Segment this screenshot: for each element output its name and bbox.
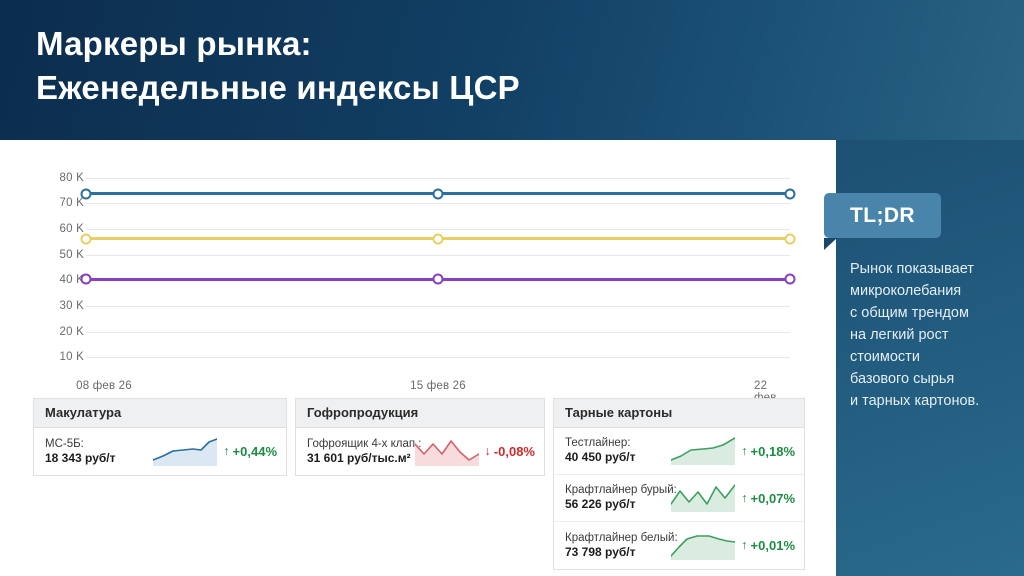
card-row[interactable]: Тестлайнер:40 450 руб/т↑+0,18% (554, 428, 804, 475)
row-commodity-name: Гофроящик 4-х клап.: (307, 437, 411, 451)
row-price-value: 56 226 руб/т (565, 497, 667, 513)
series-data-point[interactable] (785, 274, 796, 285)
row-price-value: 40 450 руб/т (565, 450, 667, 466)
arrow-down-icon: ↓ (485, 445, 491, 458)
tldr-badge-label: TL;DR (850, 204, 915, 228)
change-percent-label: +0,07% (751, 491, 795, 506)
series-data-point[interactable] (81, 188, 92, 199)
row-labels: Тестлайнер:40 450 руб/т (565, 436, 667, 466)
series-data-point[interactable] (81, 274, 92, 285)
gridline (86, 255, 790, 256)
gridline (86, 203, 790, 204)
y-axis-tick-label: 80 K (28, 172, 84, 184)
y-axis-tick-label: 70 K (28, 197, 84, 209)
y-axis-tick-label: 30 K (28, 300, 84, 312)
tldr-badge-fold-icon (824, 238, 837, 250)
row-labels: Крафтлайнер бурый:56 226 руб/т (565, 483, 667, 513)
change-badge: ↑+0,18% (741, 444, 795, 459)
y-axis-tick-label: 20 K (28, 326, 84, 338)
row-price-value: 18 343 руб/т (45, 451, 149, 467)
indicator-cards-row: МакулатураМС-5Б:18 343 руб/т↑+0,44%Гофро… (33, 398, 808, 558)
arrow-up-icon: ↑ (741, 492, 747, 505)
y-axis-tick-label: 40 K (28, 274, 84, 286)
tldr-body-text: Рынок показывает микроколебания с общим … (850, 258, 1018, 412)
gridline (86, 332, 790, 333)
sparkline-chart (671, 532, 735, 560)
y-axis-tick-label: 60 K (28, 223, 84, 235)
series-data-point[interactable] (433, 274, 444, 285)
x-axis-tick-label: 15 фев 26 (410, 380, 466, 392)
sparkline-chart (671, 484, 735, 512)
gridline (86, 357, 790, 358)
slide-root: Маркеры рынка: Еженедельные индексы ЦСР … (0, 0, 1024, 576)
sparkline-chart (153, 438, 217, 466)
arrow-up-icon: ↑ (223, 445, 229, 458)
x-axis-tick-label: 08 фев 26 (76, 380, 132, 392)
line-chart: 80 K70 K60 K50 K40 K30 K20 K10 K08 фев 2… (18, 148, 808, 393)
series-data-point[interactable] (785, 188, 796, 199)
gridline (86, 229, 790, 230)
row-commodity-name: Крафтлайнер белый: (565, 531, 667, 545)
header-band: Маркеры рынка: Еженедельные индексы ЦСР (0, 0, 1024, 140)
tldr-badge: TL;DR (824, 193, 941, 238)
page-title: Маркеры рынка: Еженедельные индексы ЦСР (36, 22, 520, 109)
change-percent-label: -0,08% (494, 444, 535, 459)
gridline (86, 306, 790, 307)
indicator-card: Тарные картоныТестлайнер:40 450 руб/т↑+0… (553, 398, 805, 570)
series-data-point[interactable] (433, 188, 444, 199)
arrow-up-icon: ↑ (741, 539, 747, 552)
row-commodity-name: Крафтлайнер бурый: (565, 483, 667, 497)
card-row[interactable]: Крафтлайнер белый:73 798 руб/т↑+0,01% (554, 522, 804, 569)
gridline (86, 178, 790, 179)
series-data-point[interactable] (433, 233, 444, 244)
indicator-card: МакулатураМС-5Б:18 343 руб/т↑+0,44% (33, 398, 287, 476)
change-percent-label: +0,01% (751, 538, 795, 553)
row-labels: МС-5Б:18 343 руб/т (45, 437, 149, 467)
change-badge: ↓-0,08% (485, 444, 535, 459)
indicator-card: ГофропродукцияГофроящик 4-х клап.:31 601… (295, 398, 545, 476)
card-row[interactable]: Гофроящик 4-х клап.:31 601 руб/тыс.м²↓-0… (296, 428, 544, 475)
change-badge: ↑+0,01% (741, 538, 795, 553)
sparkline-chart (671, 437, 735, 465)
card-title: Тарные картоны (554, 399, 804, 428)
card-title: Макулатура (34, 399, 286, 428)
y-axis-tick-label: 50 K (28, 249, 84, 261)
chart-panel: 80 K70 K60 K50 K40 K30 K20 K10 K08 фев 2… (0, 140, 836, 576)
change-badge: ↑+0,44% (223, 444, 277, 459)
sparkline-chart (415, 438, 479, 466)
card-row[interactable]: Крафтлайнер бурый:56 226 руб/т↑+0,07% (554, 475, 804, 522)
card-row[interactable]: МС-5Б:18 343 руб/т↑+0,44% (34, 428, 286, 475)
card-title: Гофропродукция (296, 399, 544, 428)
row-labels: Гофроящик 4-х клап.:31 601 руб/тыс.м² (307, 437, 411, 467)
change-percent-label: +0,18% (751, 444, 795, 459)
row-price-value: 31 601 руб/тыс.м² (307, 451, 411, 467)
change-badge: ↑+0,07% (741, 491, 795, 506)
arrow-up-icon: ↑ (741, 445, 747, 458)
change-percent-label: +0,44% (233, 444, 277, 459)
series-data-point[interactable] (81, 233, 92, 244)
row-commodity-name: МС-5Б: (45, 437, 149, 451)
row-commodity-name: Тестлайнер: (565, 436, 667, 450)
series-data-point[interactable] (785, 233, 796, 244)
y-axis-tick-label: 10 K (28, 351, 84, 363)
row-price-value: 73 798 руб/т (565, 545, 667, 561)
row-labels: Крафтлайнер белый:73 798 руб/т (565, 531, 667, 561)
